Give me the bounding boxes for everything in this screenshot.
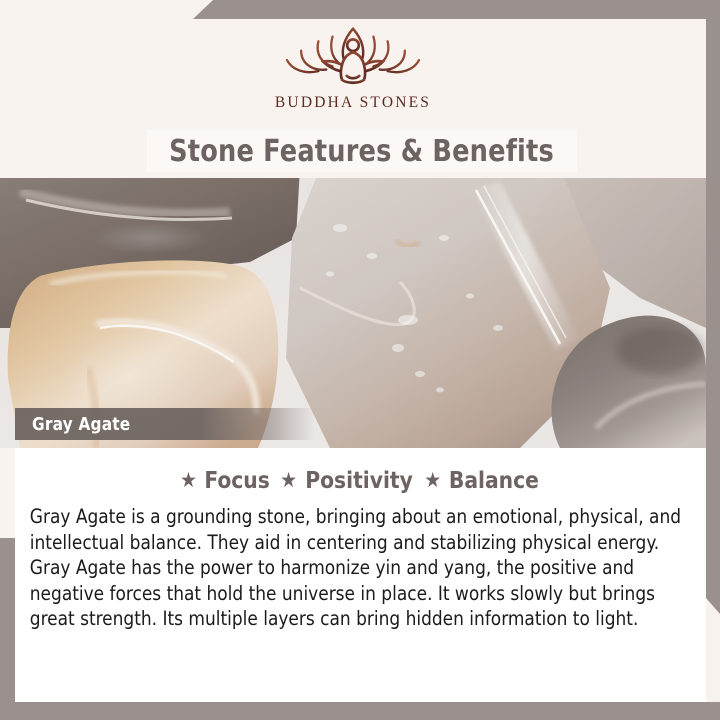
brand-logo: BUDDHA STONES: [0, 24, 706, 124]
keyword-row: ★ Focus ★ Positivity ★ Balance: [15, 448, 706, 494]
benefits-panel: ★ Focus ★ Positivity ★ Balance Gray Agat…: [15, 448, 706, 702]
keyword-label: Positivity: [305, 466, 413, 494]
lotus-meditating-figure-icon: [273, 24, 433, 90]
brand-name: BUDDHA STONES: [275, 94, 431, 112]
infographic-page: BUDDHA STONES Stone Features & Benefits: [0, 0, 720, 720]
frame-right-band: [706, 0, 720, 614]
benefits-description: Gray Agate is a grounding stone, bringin…: [15, 494, 696, 632]
star-icon: ★: [180, 470, 197, 491]
frame-bottom-band: [0, 702, 720, 720]
stone-photo: Gray Agate: [0, 178, 706, 448]
keyword-label: Balance: [449, 466, 539, 494]
star-icon: ★: [280, 470, 297, 491]
star-icon: ★: [424, 470, 441, 491]
headline-band: Stone Features & Benefits: [147, 130, 577, 172]
keyword-label: Focus: [204, 466, 269, 494]
page-title: Stone Features & Benefits: [170, 134, 555, 169]
keyword-item-balance: ★ Balance: [424, 466, 541, 494]
keyword-item-positivity: ★ Positivity: [280, 466, 415, 494]
stone-name-label: Gray Agate: [32, 414, 130, 435]
frame-left-band: [0, 538, 15, 720]
stone-name-badge: Gray Agate: [15, 408, 315, 440]
frame-top-band: [0, 0, 720, 19]
keyword-item-focus: ★ Focus: [180, 466, 271, 494]
